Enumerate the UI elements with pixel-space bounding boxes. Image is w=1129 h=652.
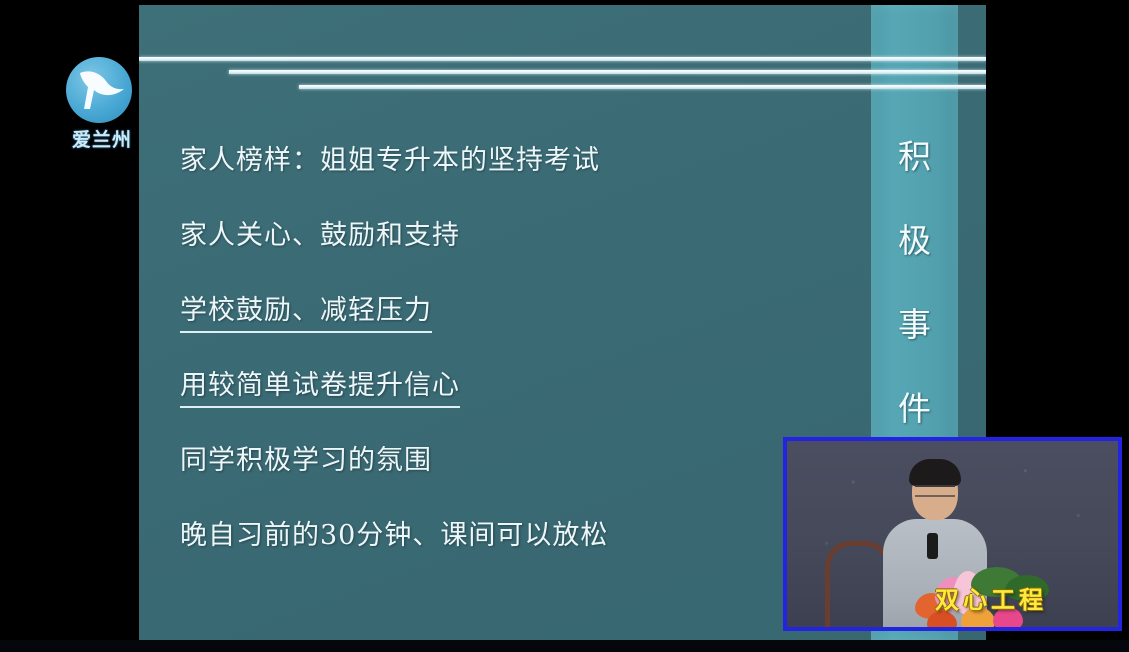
pip-speaker-hair bbox=[909, 459, 961, 486]
vertical-title-char-1: 积 bbox=[871, 115, 958, 199]
bullet-item-6: 晚自习前的30分钟、课间可以放松 bbox=[180, 520, 860, 551]
pip-speaker-glasses bbox=[915, 485, 955, 497]
pip-program-caption: 双心工程 bbox=[935, 580, 1115, 615]
logo-mark-svg bbox=[66, 57, 132, 123]
station-wordmark: 爱兰州 bbox=[60, 125, 144, 152]
video-frame: 爱兰州 积 极 事 件 家人榜样：姐姐专升本的坚持考试 家人关心、鼓励和支持 学… bbox=[0, 0, 1129, 652]
vertical-title-char-3: 事 bbox=[871, 283, 958, 367]
bullet-item-4: 用较简单试卷提升信心 bbox=[180, 370, 460, 408]
bullet-row-4: 用较简单试卷提升信心 bbox=[180, 370, 860, 445]
bullet-item-3: 学校鼓励、减轻压力 bbox=[180, 295, 432, 333]
bird-swoosh-logo-icon bbox=[66, 57, 132, 123]
bullet-item-2: 家人关心、鼓励和支持 bbox=[180, 220, 860, 251]
decorative-rule-3 bbox=[299, 85, 986, 89]
pip-microphone bbox=[927, 533, 938, 559]
decorative-rule-2 bbox=[229, 70, 986, 74]
slide-vertical-title: 积 极 事 件 bbox=[871, 115, 958, 451]
letterbox-bottom bbox=[0, 640, 1129, 652]
bullet-row-3: 学校鼓励、减轻压力 bbox=[180, 295, 860, 370]
bullet-item-1: 家人榜样：姐姐专升本的坚持考试 bbox=[180, 145, 860, 176]
bullet-item-5: 同学积极学习的氛围 bbox=[180, 445, 860, 476]
pip-chair bbox=[825, 541, 891, 631]
decorative-rule-1 bbox=[139, 57, 986, 61]
pip-speaker-video[interactable]: 双心工程 bbox=[783, 437, 1122, 631]
vertical-title-char-2: 极 bbox=[871, 199, 958, 283]
station-logo: 爱兰州 bbox=[60, 57, 144, 157]
slide-bullet-list: 家人榜样：姐姐专升本的坚持考试 家人关心、鼓励和支持 学校鼓励、减轻压力 用较简… bbox=[180, 145, 860, 595]
